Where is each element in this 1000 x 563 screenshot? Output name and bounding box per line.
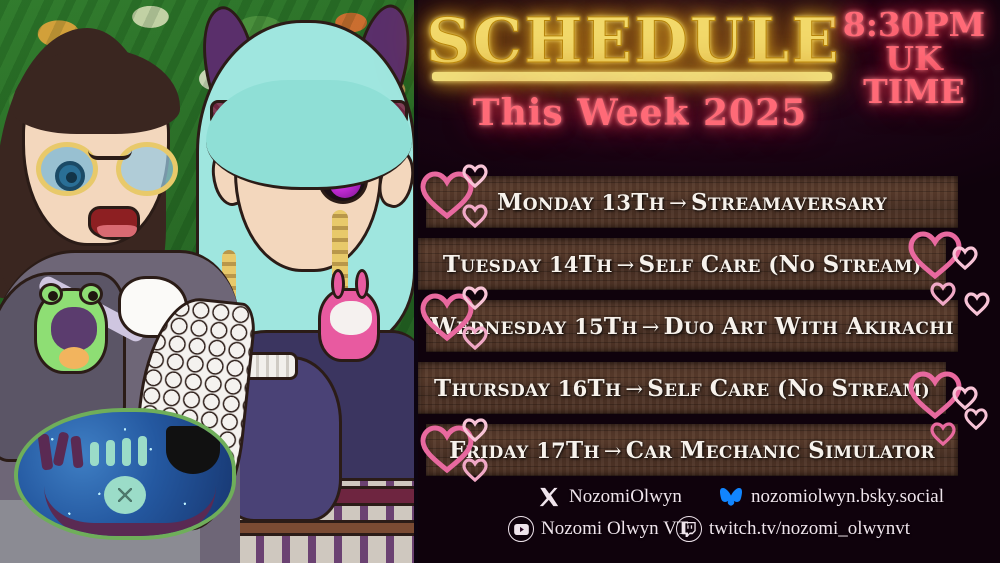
starry-shoulder-bag [14, 408, 236, 540]
bag-handwritten-name [40, 430, 170, 474]
schedule-row-tuesday: TUESDAY 14TH→SELF CARE (NO STREAM) [418, 238, 946, 290]
arrow-icon: → [613, 253, 639, 277]
bag-button [104, 476, 146, 514]
schedule-row-text: TUESDAY 14TH→SELF CARE (NO STREAM) [443, 251, 921, 278]
schedule-activity: DUO ART WITH AKIRACHI [664, 314, 954, 339]
pink-bunny-plush [318, 288, 380, 362]
schedule-panel: SCHEDULE This Week 2025 8:30PM UK TIME M… [418, 0, 1000, 563]
social-handle: twitch.tv/nozomi_olwynvt [709, 518, 910, 540]
arrow-icon: → [638, 315, 664, 339]
character-artwork-panel [0, 0, 418, 563]
page-title: SCHEDULE [426, 4, 838, 77]
schedule-row-text: MONDAY 13TH→STREAMAVERSARY [497, 189, 887, 216]
page-subtitle: This Week 2025 [460, 92, 820, 134]
schedule-row-friday: FRIDAY 17TH→CAR MECHANIC SIMULATOR [426, 424, 958, 476]
social-handle: NozomiOlwyn [569, 486, 682, 508]
schedule-activity: STREAMAVERSARY [691, 190, 887, 215]
title-underline [432, 72, 832, 81]
schedule-row-text: THURSDAY 16TH→SELF CARE (NO STREAM) [434, 375, 930, 402]
schedule-day: FRIDAY 17TH [449, 438, 600, 463]
twitch-icon [676, 516, 702, 542]
bluesky-butterfly-icon [718, 484, 744, 510]
stream-time-line1: 8:30PM [836, 8, 992, 42]
schedule-row-wednesday: WEDNESDAY 15TH→DUO ART WITH AKIRACHI [426, 300, 958, 352]
schedule-row-monday: MONDAY 13TH→STREAMAVERSARY [426, 176, 958, 228]
schedule-graphic: SCHEDULE This Week 2025 8:30PM UK TIME M… [0, 0, 1000, 563]
stream-time-line2: UK [836, 42, 992, 76]
social-x[interactable]: NozomiOlwyn [536, 484, 682, 510]
belt-lower [214, 520, 418, 536]
x-twitter-icon [536, 484, 562, 510]
green-frog-plush [34, 288, 108, 374]
winking-eye [88, 150, 132, 160]
schedule-row-text: WEDNESDAY 15TH→DUO ART WITH AKIRACHI [430, 313, 954, 340]
teal-bangs [206, 80, 412, 190]
open-mouth [88, 206, 140, 240]
arrow-icon: → [600, 439, 626, 463]
social-youtube[interactable]: Nozomi Olwyn VT [508, 516, 688, 542]
social-handle: nozomiolwyn.bsky.social [751, 486, 944, 508]
stream-time-line3: TIME [836, 75, 992, 109]
header: SCHEDULE This Week 2025 8:30PM UK TIME [418, 0, 1000, 160]
schedule-day: WEDNESDAY 15TH [430, 314, 638, 339]
schedule-day: MONDAY 13TH [497, 190, 665, 215]
schedule-activity: SELF CARE (NO STREAM) [647, 376, 930, 401]
pirate-ship-silhouette [166, 426, 220, 474]
social-handle: Nozomi Olwyn VT [541, 518, 688, 540]
schedule-day: TUESDAY 14TH [443, 252, 613, 277]
youtube-icon [508, 516, 534, 542]
schedule-activity: SELF CARE (NO STREAM) [638, 252, 921, 277]
schedule-row-thursday: THURSDAY 16TH→SELF CARE (NO STREAM) [418, 362, 946, 414]
schedule-day: THURSDAY 16TH [434, 376, 621, 401]
social-bluesky[interactable]: nozomiolwyn.bsky.social [718, 484, 944, 510]
social-twitch[interactable]: twitch.tv/nozomi_olwynvt [676, 516, 910, 542]
schedule-activity: CAR MECHANIC SIMULATOR [626, 438, 935, 463]
arrow-icon: → [665, 191, 691, 215]
arrow-icon: → [621, 377, 647, 401]
social-links: NozomiOlwyn nozomiolwyn.bsky.social Nozo… [418, 482, 1000, 560]
stream-time: 8:30PM UK TIME [836, 8, 992, 109]
schedule-row-text: FRIDAY 17TH→CAR MECHANIC SIMULATOR [449, 437, 935, 464]
